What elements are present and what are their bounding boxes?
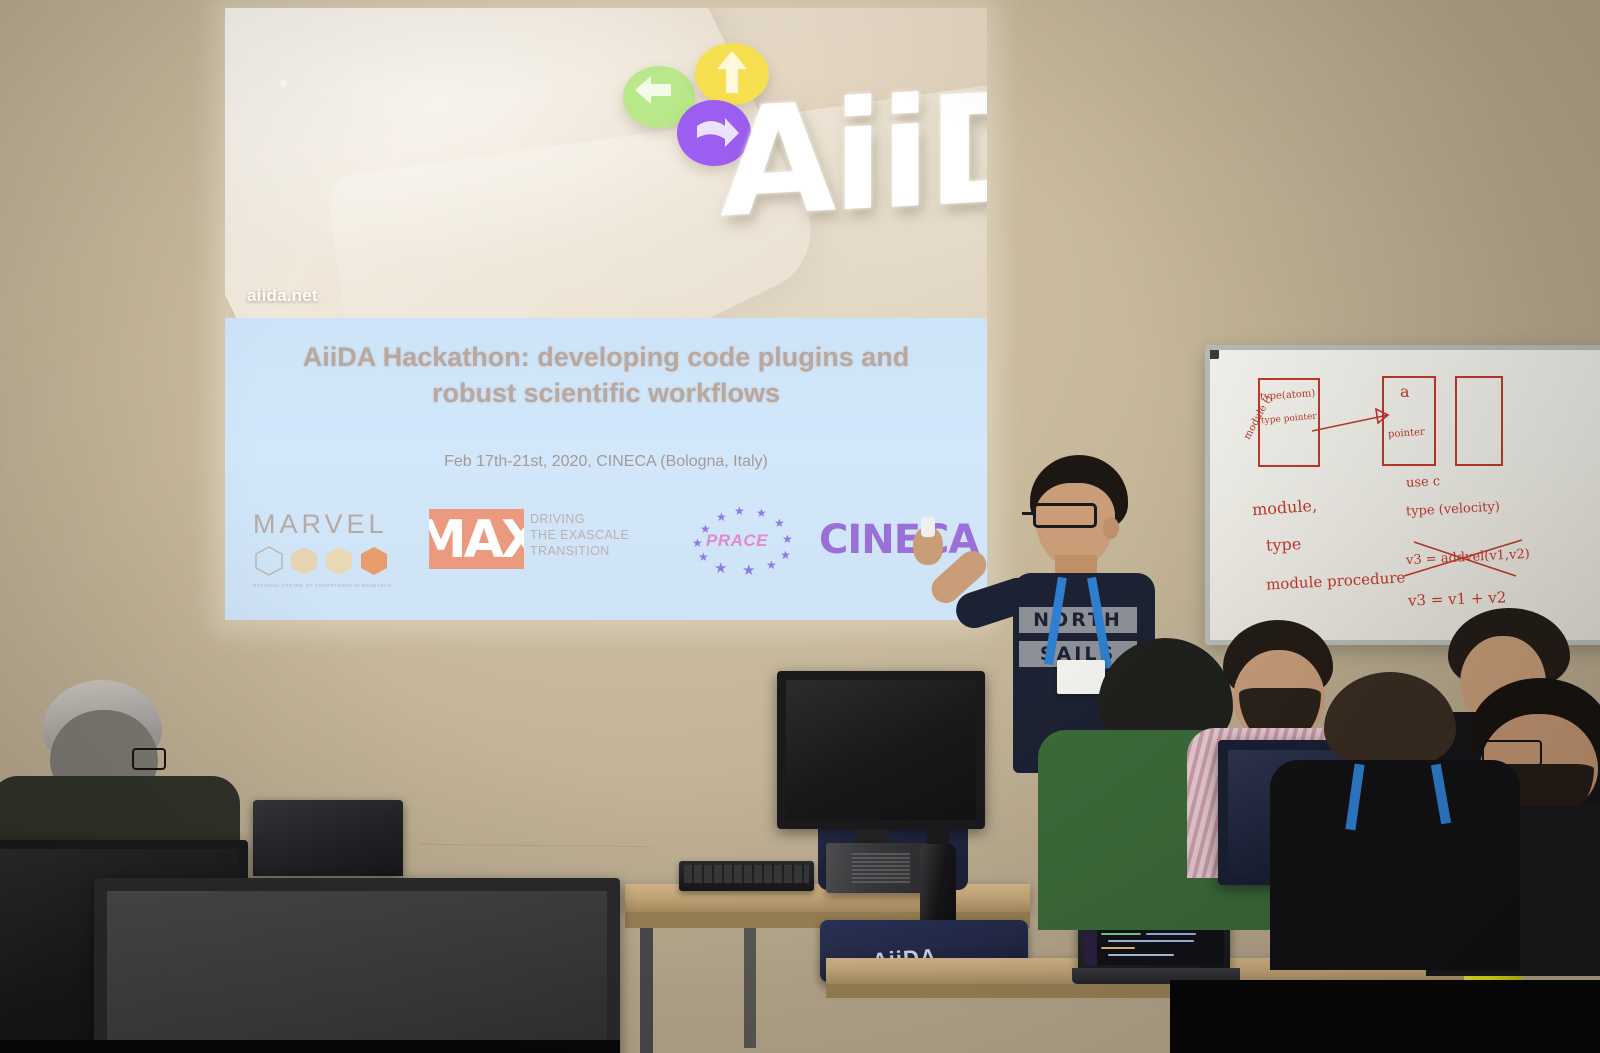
classroom-scene: AiiDA aiida.net AiiDA Hackathon: develop…	[0, 0, 1600, 1053]
scene-vignette	[0, 0, 1600, 1053]
